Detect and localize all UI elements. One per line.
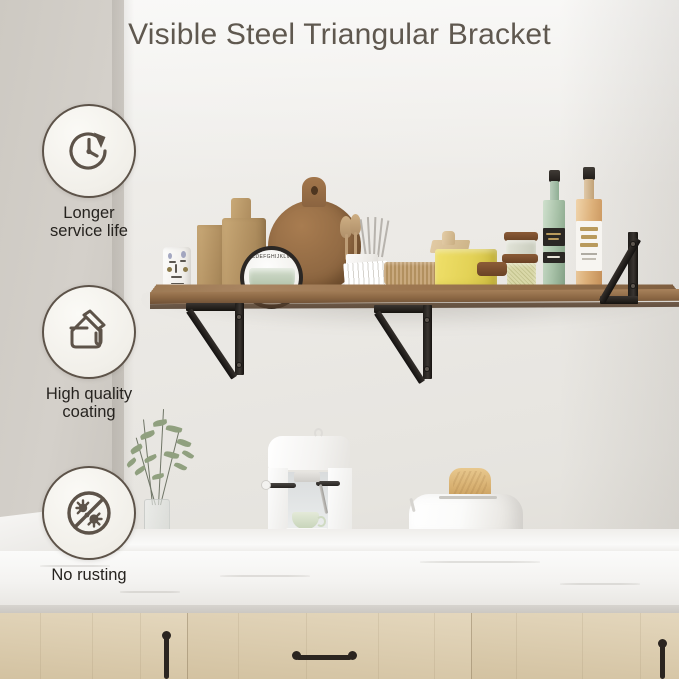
- no-rust-prohibition-icon: [60, 484, 118, 542]
- cabinet-door-3[interactable]: [472, 613, 679, 679]
- feature-label-line1: High quality: [13, 386, 165, 404]
- feature-label: Longer service life: [13, 205, 165, 240]
- triangular-bracket-left: [186, 303, 246, 375]
- feature-badge-circle: [42, 104, 136, 198]
- product-lifestyle-scene: ABCDEFGHIJKLMNOP: [0, 0, 679, 679]
- feature-label-line1: No rusting: [13, 567, 165, 585]
- page-title: Visible Steel Triangular Bracket: [0, 18, 679, 52]
- feature-no-rusting: No rusting: [13, 466, 165, 585]
- plate-letters: ABCDEFGHIJKLMNOP: [244, 254, 299, 260]
- feature-badge-circle: [42, 285, 136, 379]
- feature-high-quality-coating: High quality coating: [13, 285, 165, 421]
- feature-label-line2: coating: [13, 404, 165, 422]
- triangular-bracket-right: [600, 232, 650, 304]
- canister-knob: [442, 231, 455, 245]
- wire-whisk: [363, 217, 383, 257]
- green-glass-bottle: [541, 170, 567, 288]
- feature-label: High quality coating: [13, 386, 165, 421]
- cup-handle: [316, 516, 326, 527]
- feature-label: No rusting: [13, 567, 165, 585]
- feature-longer-service-life: Longer service life: [13, 104, 165, 240]
- spice-jar-lid: [477, 262, 507, 276]
- clock-rotate-icon: [60, 122, 118, 180]
- triangular-bracket-center: [374, 305, 434, 379]
- steam-knob: [314, 428, 323, 438]
- group-head: [294, 472, 320, 482]
- feature-label-line2: service life: [13, 223, 165, 241]
- lower-cabinets: [0, 613, 679, 679]
- paint-roller-icon: [60, 303, 118, 361]
- feature-badge-circle: [42, 466, 136, 560]
- board-hanging-hole: [311, 186, 318, 195]
- feature-label-line1: Longer: [13, 205, 165, 223]
- cabinet-door-2[interactable]: [188, 613, 472, 679]
- cabinet-door-1[interactable]: [0, 613, 188, 679]
